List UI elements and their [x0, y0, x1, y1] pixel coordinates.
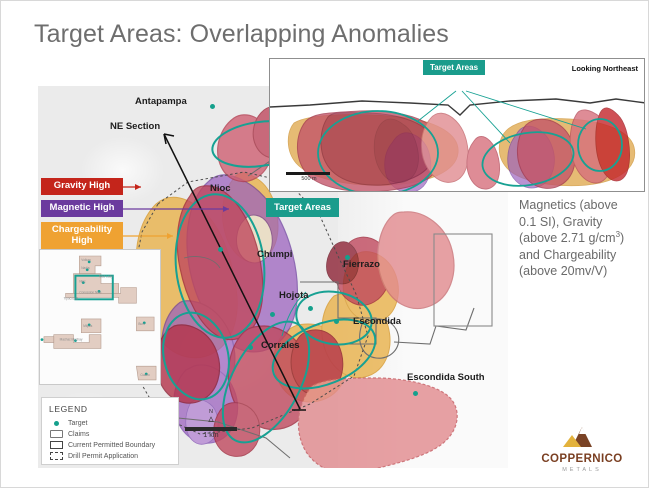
map-label-nioc: Nioc [210, 183, 231, 194]
legend-item-drill-permit: Drill Permit Application [49, 452, 171, 460]
svg-text:Machac Machay: Machac Machay [60, 338, 83, 342]
target-dot-antapampa[interactable] [210, 104, 215, 109]
permitted-boundary-icon [49, 441, 63, 449]
map-label-escondida-south: Escondida South [407, 372, 485, 383]
target-dot-hojota[interactable] [308, 306, 313, 311]
page-title: Target Areas: Overlapping Anomalies [34, 20, 449, 49]
company-logo: COPPERNICO METALS [534, 425, 630, 474]
overview-claims-layer: VolkanNadia NiocMad Lady Concesion NinaT… [40, 250, 160, 384]
inset-target-areas-badge[interactable]: Target Areas [423, 60, 485, 75]
desc-line-5: (above 20mv/V) [519, 264, 607, 278]
target-dot-chumpi[interactable] [270, 312, 275, 317]
map-label-corrales: Corrales [261, 340, 300, 351]
desc-line-2: 0.1 SI), Gravity [519, 215, 602, 229]
drill-permit-dashed-icon [49, 452, 63, 460]
svg-text:Tipococha: Tipococha [64, 296, 79, 300]
desc-line-1: Magnetics (above [519, 198, 618, 212]
svg-text:Nioc: Nioc [79, 280, 86, 284]
svg-text:Concesion Nina: Concesion Nina [79, 290, 101, 294]
svg-text:Volkan: Volkan [81, 258, 91, 262]
map-label-hojota: Hojota [279, 290, 309, 301]
svg-text:Burn: Burn [138, 322, 145, 326]
legend-item-claims: Claims [49, 430, 171, 438]
scale-bar-label: 1 km [183, 432, 239, 439]
key-chargeability-high[interactable]: Chargeability High [41, 222, 123, 249]
legend-label-permitted-boundary: Current Permitted Boundary [68, 442, 155, 449]
legend-panel: LEGEND Target Claims Current Permitted B… [41, 397, 179, 465]
target-dot-escondida-south[interactable] [413, 391, 418, 396]
svg-text:Nadia: Nadia [81, 266, 89, 270]
legend-title: LEGEND [49, 404, 171, 414]
anomaly-threshold-description: Magnetics (above 0.1 SI), Gravity (above… [519, 197, 645, 280]
claims-outline-icon [49, 430, 63, 438]
logo-subtitle: METALS [534, 467, 630, 473]
map-label-fierrazo: Fierrazo [343, 259, 380, 270]
claims-overview-map[interactable]: VolkanNadia NiocMad Lady Concesion NinaT… [39, 249, 161, 385]
scale-bar-line [185, 427, 237, 431]
inset-scale-line [286, 172, 330, 175]
legend-item-target: Target [49, 419, 171, 427]
svg-text:Mad Lady: Mad Lady [99, 275, 113, 279]
key-magnetic-high[interactable]: Magnetic High [41, 200, 123, 217]
map-label-escondida: Escondida [353, 316, 401, 327]
legend-label-claims: Claims [68, 431, 89, 438]
svg-text:Cuarto: Cuarto [140, 373, 150, 377]
map-target-areas-badge[interactable]: Target Areas [266, 198, 339, 217]
target-dot-icon [49, 421, 63, 426]
svg-text:Milpos: Milpos [83, 324, 92, 328]
north-arrow-icon: ▵ [183, 415, 239, 425]
target-dot-escondida[interactable] [334, 319, 339, 324]
slide-canvas: Target Areas: Overlapping Anomalies [0, 0, 649, 488]
legend-label-drill-permit: Drill Permit Application [68, 453, 138, 460]
map-label-antapampa: Antapampa [135, 96, 187, 107]
target-dot-nioc[interactable] [218, 247, 223, 252]
mountain-icon [534, 425, 630, 449]
legend-label-target: Target [68, 420, 87, 427]
legend-item-permitted-boundary: Current Permitted Boundary [49, 441, 171, 449]
key-gravity-high[interactable]: Gravity High [41, 178, 123, 195]
map-label-ne-section: NE Section [110, 121, 160, 132]
desc-line-3a: (above 2.71 g/cm [519, 231, 616, 245]
inset-scale-bar: 500 m [286, 172, 332, 182]
inset-view-label: Looking Northeast [572, 64, 638, 73]
map-label-chumpi: Chumpi [257, 249, 292, 260]
cross-section-inset[interactable]: Looking Northeast 500 m [269, 58, 645, 192]
desc-line-4: and Chargeability [519, 248, 616, 262]
desc-line-3c: ) [620, 231, 624, 245]
target-dot-corrales[interactable] [248, 345, 253, 350]
map-scale-bar: N ▵ 1 km [183, 410, 239, 439]
logo-name: COPPERNICO [534, 454, 630, 466]
inset-scale-label: 500 m [286, 176, 332, 182]
